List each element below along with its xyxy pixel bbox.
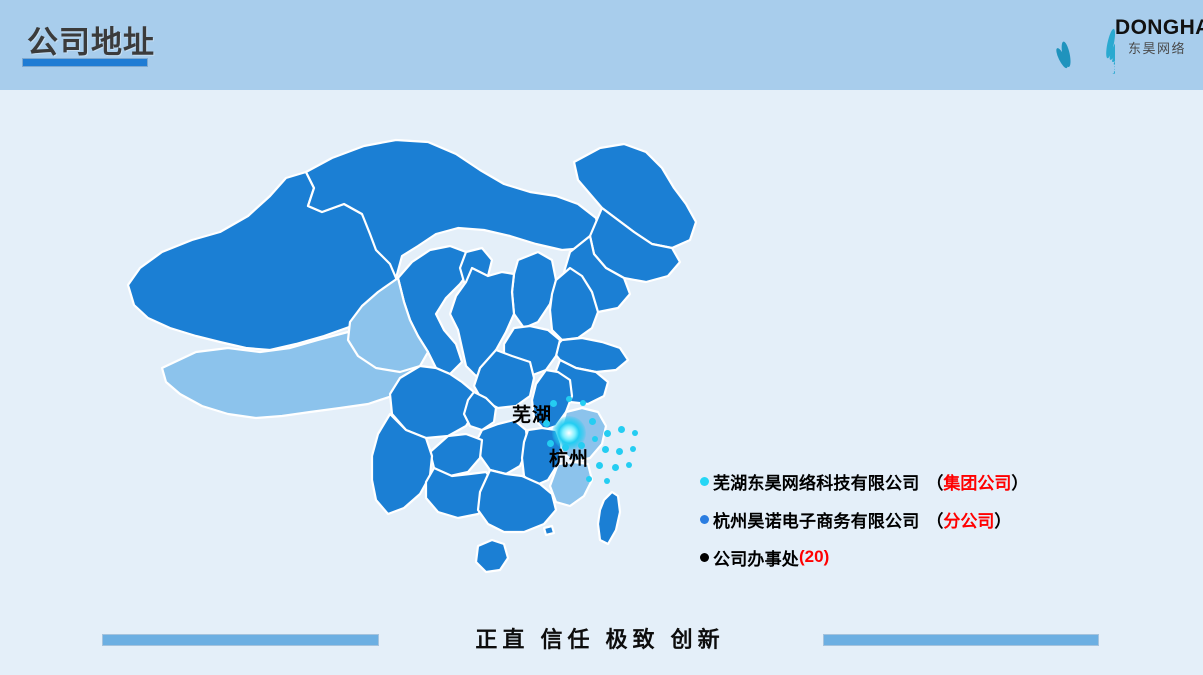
map-office-dot[interactable] (604, 478, 610, 484)
map-office-dot[interactable] (618, 426, 625, 433)
map-office-dot[interactable] (566, 396, 572, 402)
map-office-dot[interactable] (612, 464, 619, 471)
map-office-dot[interactable] (604, 430, 611, 437)
legend-bullet-icon (700, 477, 709, 486)
map-office-dot[interactable] (626, 462, 632, 468)
province-hongkong (544, 526, 554, 535)
china-map: 芜湖 杭州 (100, 100, 760, 610)
province-hainan (476, 540, 508, 572)
map-office-dot[interactable] (547, 440, 554, 447)
legend-item-branch-company: 杭州昊诺电子商务有限公司 （ 分公司 ） (700, 500, 1100, 538)
brand-logo-text: DONGHAO 东昊网络 (1115, 16, 1199, 58)
legend-item-offices: 公司办事处 ( 20 ) (700, 538, 1100, 576)
legend-label: 杭州昊诺电子商务有限公司 (713, 507, 919, 532)
province-taiwan (598, 492, 620, 544)
map-office-dot[interactable] (616, 448, 623, 455)
map-office-dot[interactable] (602, 446, 609, 453)
legend-bullet-icon (700, 515, 709, 524)
legend-open-paren: （ (926, 469, 943, 494)
map-office-dot[interactable] (578, 442, 585, 449)
legend-close-paren: ) (824, 547, 830, 567)
map-office-dot[interactable] (630, 446, 636, 452)
page-title: 公司地址 (27, 17, 155, 62)
legend-label: 公司办事处 (713, 545, 799, 570)
legend-close-paren: ） (994, 507, 1011, 532)
donghao-wing-logo-icon (1053, 8, 1115, 74)
legend-label: 芜湖东昊网络科技有限公司 (713, 469, 919, 494)
map-office-dot[interactable] (632, 430, 638, 436)
legend: 芜湖东昊网络科技有限公司 （ 集团公司 ） 杭州昊诺电子商务有限公司 （ 分公司… (700, 462, 1100, 576)
map-office-dot[interactable] (586, 476, 592, 482)
slide: 公司地址 (0, 0, 1203, 675)
legend-tag: 集团公司 (943, 469, 1011, 494)
china-map-svg (100, 100, 760, 610)
map-office-dot[interactable] (550, 400, 557, 407)
brand-name-en: DONGHAO (1115, 16, 1199, 40)
map-office-dot[interactable] (543, 420, 550, 427)
province-shanxi (512, 252, 556, 328)
map-office-dot[interactable] (592, 436, 598, 442)
footer-bar-left (102, 634, 379, 646)
legend-tag: 20 (805, 547, 824, 567)
map-office-dot[interactable] (580, 400, 586, 406)
title-underline-accent (22, 58, 148, 67)
legend-item-group-company: 芜湖东昊网络科技有限公司 （ 集团公司 ） (700, 462, 1100, 500)
map-office-dot[interactable] (589, 418, 596, 425)
brand-logo: DONGHAO 东昊网络 (1053, 6, 1199, 78)
footer-bar-right (823, 634, 1099, 646)
map-office-dot[interactable] (596, 462, 603, 469)
header-band (0, 0, 1203, 90)
legend-bullet-icon (700, 553, 709, 562)
map-office-dot[interactable] (562, 444, 569, 451)
footer-slogan: 正直 信任 极致 创新 (440, 622, 760, 654)
legend-open-paren: （ (926, 507, 943, 532)
brand-name-cn: 东昊网络 (1115, 40, 1199, 58)
legend-close-paren: ） (1011, 469, 1028, 494)
legend-tag: 分公司 (943, 507, 994, 532)
